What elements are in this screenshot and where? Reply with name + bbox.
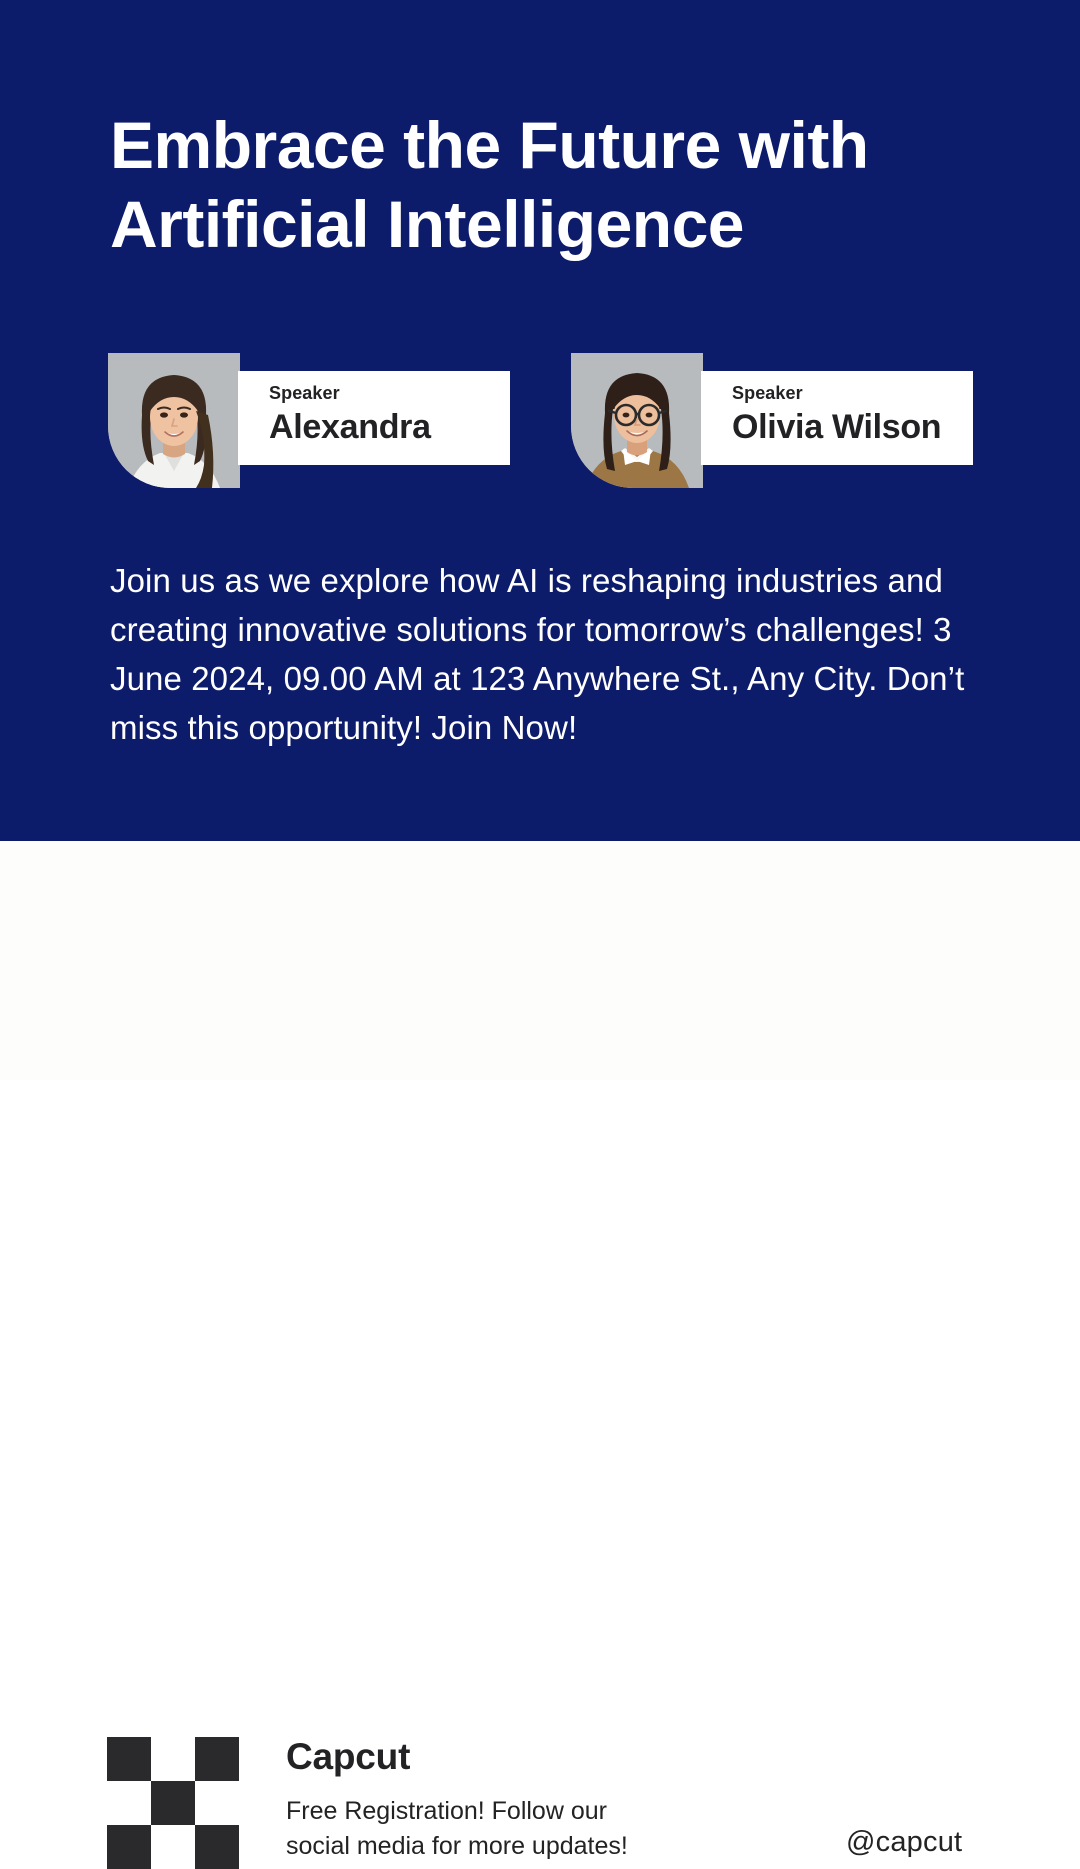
hero-panel: Embrace the Future with Artificial Intel… xyxy=(0,0,1080,841)
speaker-name-plate-olivia-wilson: Speaker Olivia Wilson xyxy=(701,371,973,465)
speaker-role-label: Speaker xyxy=(732,384,973,402)
registration-tagline: Free Registration! Follow our social med… xyxy=(286,1794,716,1864)
event-poster: Embrace the Future with Artificial Intel… xyxy=(0,0,1080,1080)
speaker-photo-olivia-wilson xyxy=(571,353,703,488)
speaker-name-plate-alexandra: Speaker Alexandra xyxy=(238,371,510,465)
footer-bar: Capcut Free Registration! Follow our soc… xyxy=(0,841,1080,1080)
brand-name: Capcut xyxy=(286,1737,410,1778)
page-title: Embrace the Future with Artificial Intel… xyxy=(110,106,1010,264)
speaker-name: Olivia Wilson xyxy=(732,409,973,446)
event-description: Join us as we explore how AI is reshapin… xyxy=(110,556,976,752)
speaker-role-label: Speaker xyxy=(269,384,510,402)
checkerboard-logo-icon xyxy=(107,1737,239,1869)
speaker-card-alexandra: Speaker Alexandra xyxy=(108,353,510,488)
speaker-name: Alexandra xyxy=(269,409,510,446)
speaker-photo-alexandra xyxy=(108,353,240,488)
speaker-card-olivia-wilson: Speaker Olivia Wilson xyxy=(571,353,973,488)
social-handle: @capcut xyxy=(846,1826,962,1859)
